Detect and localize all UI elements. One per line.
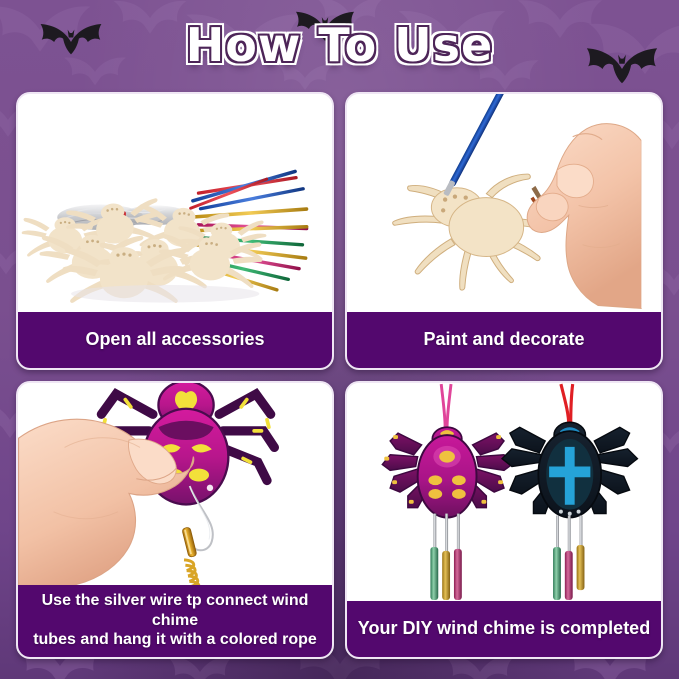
finished-windchimes-illustration: [347, 383, 661, 601]
step-1-caption-line: Open all accessories: [85, 329, 264, 351]
page-title: How To Use: [0, 18, 679, 72]
step-4-photo: [347, 383, 661, 601]
step-4-caption: Your DIY wind chime is completed: [347, 601, 661, 657]
step-1-caption: Open all accessories: [18, 312, 332, 368]
step-1-photo: [18, 94, 332, 312]
pink-tube: [454, 549, 462, 600]
painting-illustration: [347, 94, 661, 312]
gold-tube: [442, 551, 450, 600]
accessories-illustration: [18, 94, 332, 312]
step-panel-2: Paint and decorate: [345, 92, 663, 370]
step-4-caption-line: Your DIY wind chime is completed: [358, 618, 650, 640]
step-2-caption: Paint and decorate: [347, 312, 661, 368]
pink-tube: [565, 551, 573, 600]
wire-assembly-illustration: [18, 383, 332, 585]
how-to-use-infographic: How To Use: [0, 0, 679, 679]
step-3-caption-line-1: Use the silver wire tp connect wind chim…: [24, 591, 326, 630]
steps-grid: Open all accessories: [16, 92, 663, 659]
step-3-photo: [18, 383, 332, 585]
step-2-caption-line: Paint and decorate: [423, 329, 584, 351]
step-panel-1: Open all accessories: [16, 92, 334, 370]
step-3-caption: Use the silver wire tp connect wind chim…: [18, 585, 332, 657]
step-2-photo: [347, 94, 661, 312]
step-3-caption-line-2: tubes and hang it with a colored rope: [24, 630, 326, 650]
green-tube: [553, 547, 561, 600]
step-panel-3: Use the silver wire tp connect wind chim…: [16, 381, 334, 659]
green-tube: [430, 547, 438, 600]
gold-tube: [577, 545, 585, 590]
step-panel-4: Your DIY wind chime is completed: [345, 381, 663, 659]
